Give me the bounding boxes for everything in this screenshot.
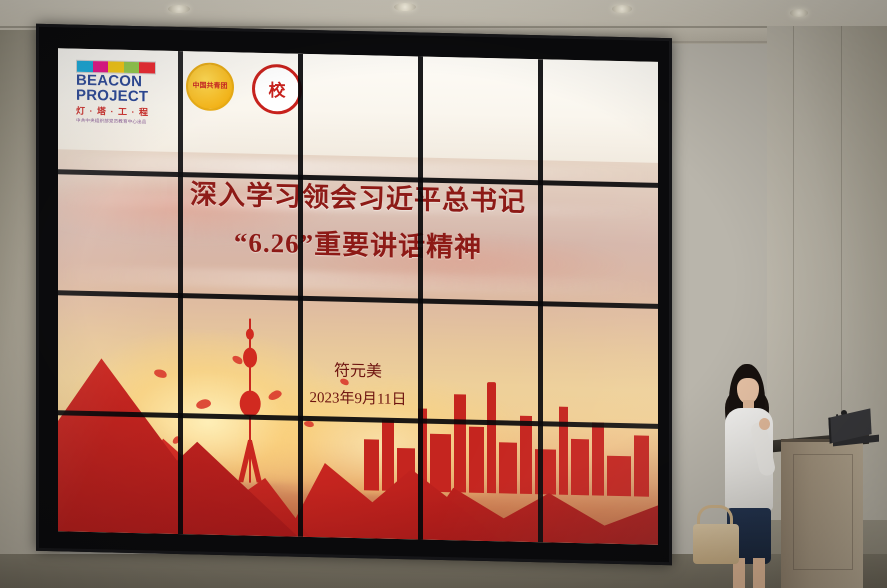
slide-title: 深入学习领会习近平总书记 “6.26”重要讲话精神 [58, 169, 658, 269]
slide-logo-row: BEACON PROJECT 灯 · 塔 · 工 · 程 中共中央组织部党员教育… [76, 59, 302, 129]
party-school-emblem: 校 [252, 63, 302, 114]
video-wall-screen[interactable]: BEACON PROJECT 灯 · 塔 · 工 · 程 中共中央组织部党员教育… [58, 48, 658, 545]
youth-league-emblem-text: 中国共青团 [193, 82, 228, 90]
video-wall: BEACON PROJECT 灯 · 塔 · 工 · 程 中共中央组织部党员教育… [36, 24, 672, 565]
party-school-emblem-glyph: 校 [269, 76, 286, 101]
lectern [781, 439, 863, 588]
beacon-project-logo: BEACON PROJECT 灯 · 塔 · 工 · 程 中共中央组织部党员教育… [76, 59, 168, 126]
ceiling-light-icon [168, 5, 190, 13]
presentation-slide: BEACON PROJECT 灯 · 塔 · 工 · 程 中共中央组织部党员教育… [58, 48, 658, 545]
photo-scene: BEACON PROJECT 灯 · 塔 · 工 · 程 中共中央组织部党员教育… [0, 0, 887, 588]
ceiling-light-icon [612, 5, 632, 13]
slide-title-line-2: “6.26”重要讲话精神 [58, 216, 658, 269]
beacon-logo-line2: PROJECT [76, 88, 168, 105]
ceiling-light-icon [394, 3, 416, 11]
presenter-hand [759, 418, 770, 430]
slide-tv-tower-graphic [238, 318, 262, 483]
youth-league-emblem: 中国共青团 [186, 62, 234, 111]
beacon-logo-chinese: 灯 · 塔 · 工 · 程 [76, 104, 168, 119]
handbag [693, 524, 739, 564]
ceiling-light-icon [790, 9, 808, 17]
